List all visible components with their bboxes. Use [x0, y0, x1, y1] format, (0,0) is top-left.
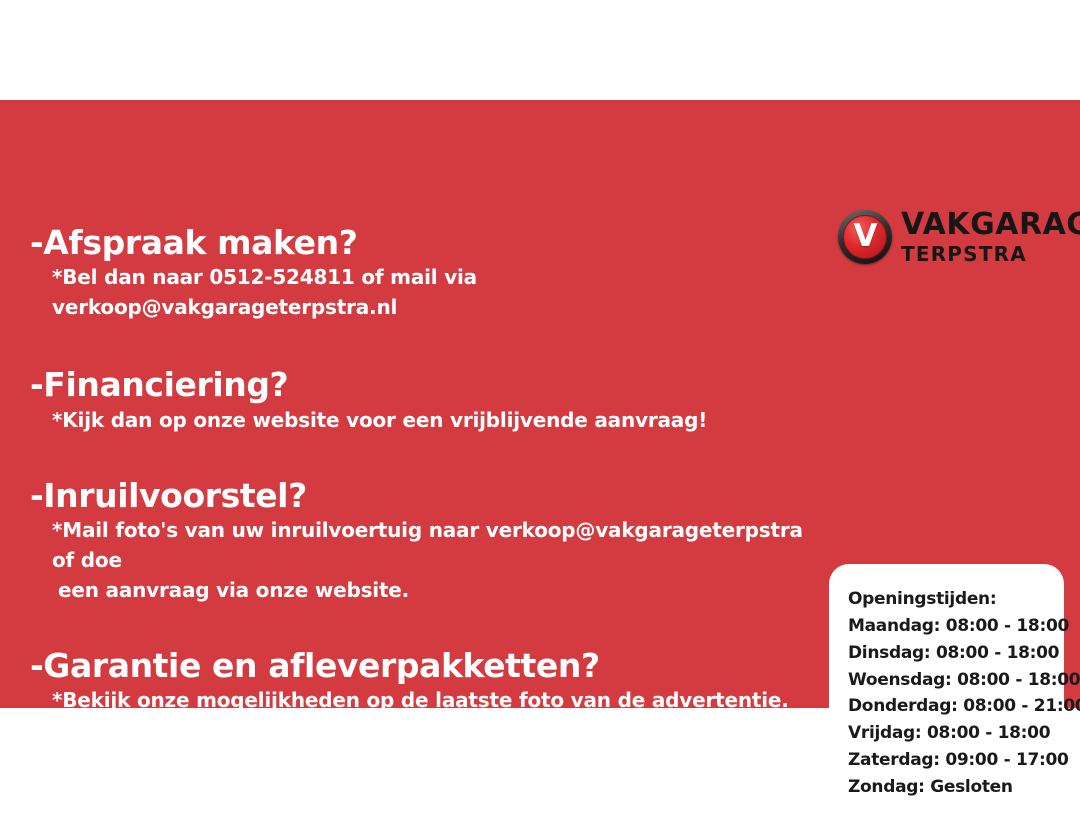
vakgarage-badge-icon: V — [838, 210, 892, 264]
qa-detail-bezoekadres-1: *De Hemmen 17, 9206AS, Drachten (Friesla… — [30, 787, 820, 817]
vakgarage-logo: V VAKGARAGE TERPSTRA — [838, 210, 1080, 264]
qa-block-inruilvoorstel: -Inruilvoorstel? *Mail foto's van uw inr… — [30, 477, 820, 605]
qa-heading-inruilvoorstel: -Inruilvoorstel? — [30, 477, 820, 515]
opening-hours-row-friday: Vrijdag: 08:00 - 18:00 — [848, 720, 1064, 747]
qa-heading-bezoekadres: -Bezoekadres? — [30, 749, 820, 787]
qa-block-financiering: -Financiering? *Kijk dan op onze website… — [30, 366, 820, 434]
qa-detail-afspraak-1: *Bel dan naar 0512-524811 of mail via ve… — [30, 262, 820, 322]
logo-subbrand-text: TERPSTRA — [901, 244, 1080, 264]
qa-block-bezoekadres: -Bezoekadres? *De Hemmen 17, 9206AS, Dra… — [30, 749, 820, 817]
qa-detail-inruilvoorstel-1: *Mail foto's van uw inruilvoertuig naar … — [30, 515, 820, 575]
qa-heading-financiering: -Financiering? — [30, 366, 820, 404]
opening-hours-card: Openingstijden: Maandag: 08:00 - 18:00 D… — [829, 564, 1064, 798]
logo-wordmark: VAKGARAGE TERPSTRA — [901, 210, 1080, 264]
opening-hours-row-saturday: Zaterdag: 09:00 - 17:00 — [848, 747, 1064, 774]
red-info-panel: V VAKGARAGE TERPSTRA -Afspraak maken? *B… — [0, 100, 1080, 708]
advertisement-canvas: V VAKGARAGE TERPSTRA -Afspraak maken? *B… — [0, 0, 1080, 810]
qa-block-afspraak: -Afspraak maken? *Bel dan naar 0512-5248… — [30, 224, 820, 322]
opening-hours-row-sunday: Zondag: Gesloten — [848, 774, 1064, 801]
qa-detail-financiering-1: *Kijk dan op onze website voor een vrijb… — [30, 405, 820, 435]
badge-v-letter: V — [838, 210, 892, 264]
qa-list: -Afspraak maken? *Bel dan naar 0512-5248… — [30, 224, 820, 817]
opening-hours-row-monday: Maandag: 08:00 - 18:00 — [848, 613, 1064, 640]
qa-detail-garantie-1: *Bekijk onze mogelijkheden op de laatste… — [30, 685, 820, 715]
opening-hours-row-thursday: Donderdag: 08:00 - 21:00 — [848, 693, 1064, 720]
opening-hours-title: Openingstijden: — [848, 586, 1064, 613]
opening-hours-row-wednesday: Woensdag: 08:00 - 18:00 — [848, 667, 1064, 694]
qa-detail-inruilvoorstel-2: een aanvraag via onze website. — [30, 575, 820, 605]
logo-brand-text: VAKGARAGE — [901, 210, 1080, 240]
qa-heading-garantie: -Garantie en afleverpakketten? — [30, 647, 820, 685]
qa-heading-afspraak: -Afspraak maken? — [30, 224, 820, 262]
qa-block-garantie: -Garantie en afleverpakketten? *Bekijk o… — [30, 647, 820, 715]
opening-hours-row-tuesday: Dinsdag: 08:00 - 18:00 — [848, 640, 1064, 667]
